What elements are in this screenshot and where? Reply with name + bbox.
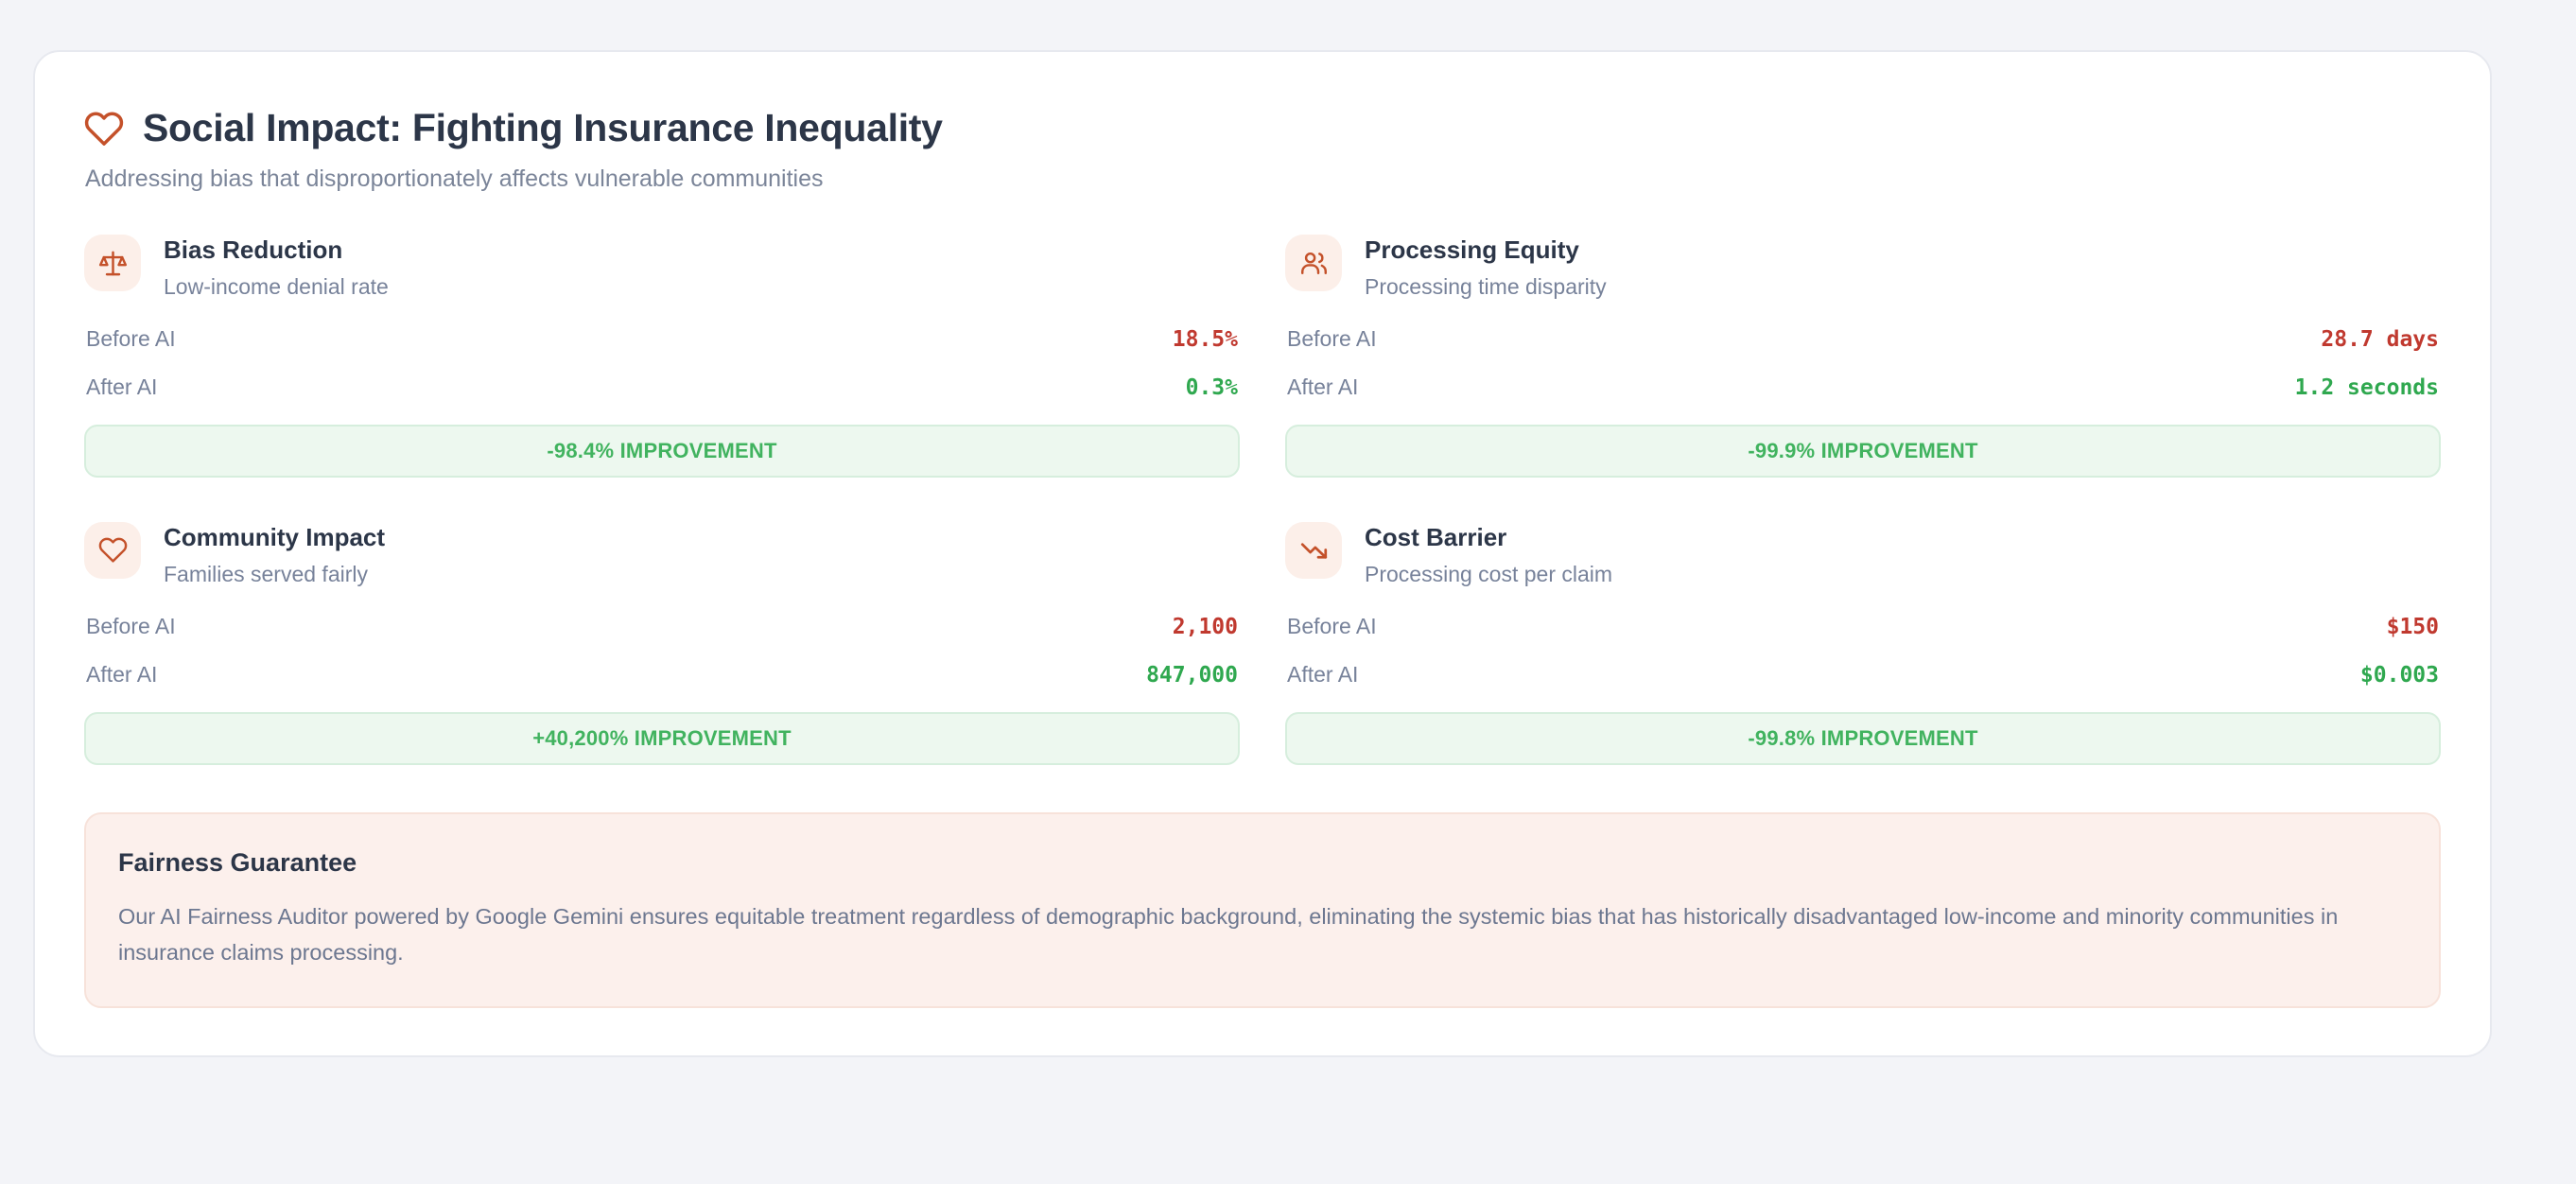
panel-header: Social Impact: Fighting Insurance Inequa…	[84, 107, 2441, 193]
metric-after-label: After AI	[86, 662, 157, 688]
title-row: Social Impact: Fighting Insurance Inequa…	[84, 107, 2441, 149]
fairness-guarantee-box: Fairness Guarantee Our AI Fairness Audit…	[84, 812, 2441, 1008]
heart-icon	[84, 522, 141, 579]
metric-header-text: Cost Barrier Processing cost per claim	[1365, 522, 1612, 587]
metric-row-after: After AI 1.2 seconds	[1285, 373, 2441, 400]
page-subtitle: Addressing bias that disproportionately …	[85, 165, 2441, 193]
metric-before-value: 2,100	[1173, 615, 1238, 639]
metric-header-text: Bias Reduction Low-income denial rate	[164, 235, 389, 300]
page-root: Social Impact: Fighting Insurance Inequa…	[0, 0, 2576, 1184]
metric-before-label: Before AI	[1287, 326, 1377, 352]
page-title: Social Impact: Fighting Insurance Inequa…	[143, 107, 943, 149]
fairness-guarantee-title: Fairness Guarantee	[118, 848, 2407, 878]
metric-title: Bias Reduction	[164, 236, 389, 265]
metric-title: Processing Equity	[1365, 236, 1607, 265]
metric-header: Processing Equity Processing time dispar…	[1285, 235, 2441, 300]
metric-header: Community Impact Families served fairly	[84, 522, 1240, 587]
metric-before-label: Before AI	[86, 614, 176, 639]
improvement-badge: -99.9% IMPROVEMENT	[1285, 425, 2441, 478]
metric-card-processing-equity: Processing Equity Processing time dispar…	[1285, 235, 2441, 478]
metric-row-after: After AI 0.3%	[84, 373, 1240, 400]
scales-icon	[84, 235, 141, 291]
metric-row-before: Before AI 2,100	[84, 612, 1240, 639]
metric-card-bias-reduction: Bias Reduction Low-income denial rate Be…	[84, 235, 1240, 478]
metric-subtitle: Low-income denial rate	[164, 274, 389, 300]
metric-header: Bias Reduction Low-income denial rate	[84, 235, 1240, 300]
metric-row-before: Before AI $150	[1285, 612, 2441, 639]
metric-title: Community Impact	[164, 524, 385, 552]
metric-subtitle: Processing cost per claim	[1365, 562, 1612, 587]
metric-after-label: After AI	[86, 374, 157, 400]
metric-after-label: After AI	[1287, 662, 1358, 688]
trending-down-icon	[1285, 522, 1342, 579]
metric-title: Cost Barrier	[1365, 524, 1612, 552]
metric-row-before: Before AI 18.5%	[84, 324, 1240, 352]
metric-card-cost-barrier: Cost Barrier Processing cost per claim B…	[1285, 522, 2441, 765]
improvement-badge: +40,200% IMPROVEMENT	[84, 712, 1240, 765]
metric-header-text: Community Impact Families served fairly	[164, 522, 385, 587]
metric-header: Cost Barrier Processing cost per claim	[1285, 522, 2441, 587]
users-icon	[1285, 235, 1342, 291]
metric-grid: Bias Reduction Low-income denial rate Be…	[84, 235, 2441, 765]
metric-after-value: 0.3%	[1186, 375, 1238, 400]
improvement-badge: -98.4% IMPROVEMENT	[84, 425, 1240, 478]
metric-after-value: 847,000	[1146, 663, 1238, 688]
metric-after-label: After AI	[1287, 374, 1358, 400]
improvement-badge: -99.8% IMPROVEMENT	[1285, 712, 2441, 765]
metric-before-label: Before AI	[86, 326, 176, 352]
metric-row-after: After AI 847,000	[84, 660, 1240, 688]
metric-before-label: Before AI	[1287, 614, 1377, 639]
metric-after-value: $0.003	[2360, 663, 2439, 688]
metric-row-before: Before AI 28.7 days	[1285, 324, 2441, 352]
metric-header-text: Processing Equity Processing time dispar…	[1365, 235, 1607, 300]
metric-before-value: $150	[2387, 615, 2439, 639]
heart-icon	[84, 109, 124, 148]
metric-before-value: 28.7 days	[2321, 327, 2439, 352]
fairness-guarantee-text: Our AI Fairness Auditor powered by Googl…	[118, 898, 2407, 970]
metric-before-value: 18.5%	[1173, 327, 1238, 352]
metric-subtitle: Processing time disparity	[1365, 274, 1607, 300]
social-impact-panel: Social Impact: Fighting Insurance Inequa…	[33, 50, 2492, 1057]
metric-card-community-impact: Community Impact Families served fairly …	[84, 522, 1240, 765]
metric-subtitle: Families served fairly	[164, 562, 385, 587]
metric-after-value: 1.2 seconds	[2295, 375, 2439, 400]
metric-row-after: After AI $0.003	[1285, 660, 2441, 688]
